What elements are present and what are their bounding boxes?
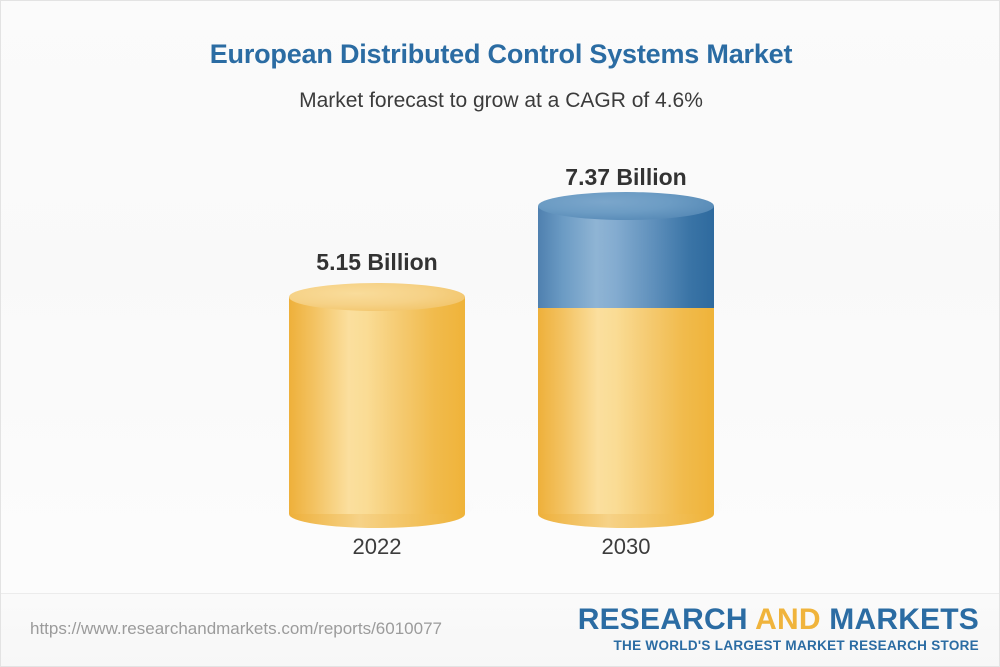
cylinder-2022[interactable] [289,297,465,514]
bar-group-2022: 5.15 Billion 2022 [289,1,465,593]
research-and-markets-logo[interactable]: RESEARCH AND MARKETS THE WORLD'S LARGEST… [578,604,979,653]
plot-area: 5.15 Billion 2022 7.37 Billion [1,1,1000,593]
value-label-2030: 7.37 Billion [538,164,714,191]
cylinder-body [289,297,465,514]
logo-and-text: AND [755,603,821,636]
category-label-2030: 2030 [538,534,714,560]
cylinder-segment-growth [538,206,714,308]
chart-image: European Distributed Control Systems Mar… [0,0,1000,667]
cylinder-body [538,206,714,308]
value-label-2022: 5.15 Billion [289,249,465,276]
category-label-2022: 2022 [289,534,465,560]
cylinder-top-cap [538,192,714,220]
footer: https://www.researchandmarkets.com/repor… [1,593,1000,667]
logo-tagline: THE WORLD'S LARGEST MARKET RESEARCH STOR… [578,638,979,653]
report-url[interactable]: https://www.researchandmarkets.com/repor… [30,619,442,639]
logo-research-text: RESEARCH [578,603,755,636]
logo-markets-text: MARKETS [821,603,979,636]
logo-wordmark: RESEARCH AND MARKETS [578,604,979,636]
cylinder-2030[interactable] [538,206,714,514]
cylinder-segment-base [538,308,714,514]
cylinder-body [538,308,714,514]
bar-group-2030: 7.37 Billion 2030 [538,1,714,593]
cylinder-segment-base [289,297,465,514]
cylinder-top-cap [289,283,465,311]
